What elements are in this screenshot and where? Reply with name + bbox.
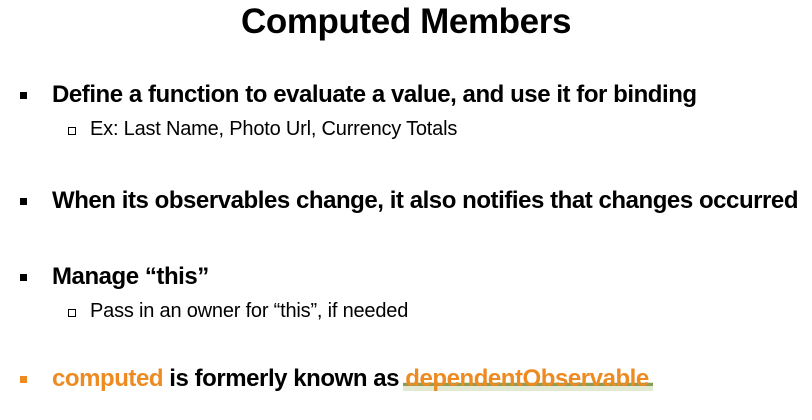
bullet-square-icon <box>20 198 27 205</box>
sub-list-item: Ex: Last Name, Photo Url, Currency Total… <box>0 114 812 146</box>
list-item-label: computed is formerly known as dependentO… <box>52 362 649 396</box>
list-item: Define a function to evaluate a value, a… <box>0 78 812 114</box>
sub-list-item: Pass in an owner for “this”, if needed <box>0 296 812 328</box>
bullet-square-icon <box>20 92 27 99</box>
deprecated-term: dependentObservable <box>405 362 649 396</box>
page-title: Computed Members <box>0 2 812 42</box>
spacer <box>0 220 812 260</box>
list-item-highlighted: computed is formerly known as dependentO… <box>0 362 812 398</box>
list-item-label: When its observables change, it also not… <box>52 184 798 218</box>
sub-list-item-label: Ex: Last Name, Photo Url, Currency Total… <box>90 114 457 144</box>
spacer <box>0 328 812 362</box>
bullet-list: Define a function to evaluate a value, a… <box>0 78 812 398</box>
middle-text: is formerly known as <box>163 365 405 392</box>
bullet-hollow-square-icon <box>68 127 76 135</box>
bullet-square-icon <box>20 274 27 281</box>
list-item: Manage “this” <box>0 260 812 296</box>
list-item: When its observables change, it also not… <box>0 184 812 220</box>
slide: Computed Members Define a function to ev… <box>0 0 812 420</box>
accent-term: computed <box>52 365 163 392</box>
bullet-square-accent-icon <box>20 376 27 383</box>
sub-list-item-label: Pass in an owner for “this”, if needed <box>90 296 408 326</box>
deprecated-term-label: dependentObservable <box>405 365 649 392</box>
spacer <box>0 146 812 184</box>
bullet-hollow-square-icon <box>68 309 76 317</box>
list-item-label: Manage “this” <box>52 260 209 294</box>
list-item-label: Define a function to evaluate a value, a… <box>52 78 697 112</box>
